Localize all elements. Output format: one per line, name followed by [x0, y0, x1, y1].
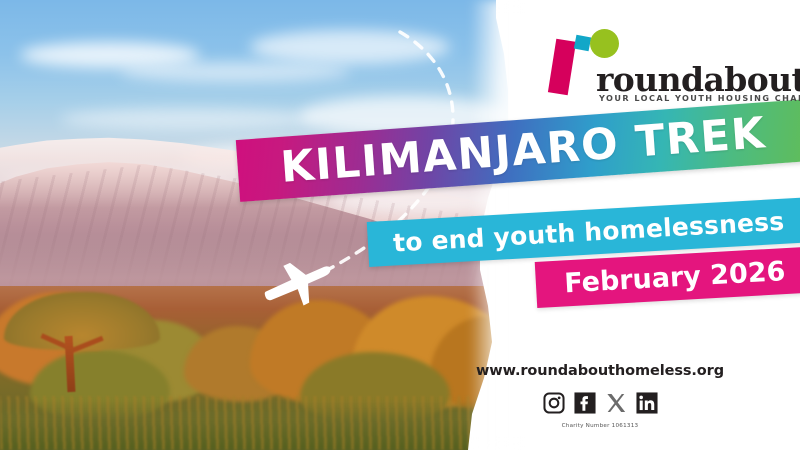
x-twitter-icon[interactable] — [605, 392, 627, 414]
linkedin-icon[interactable] — [636, 392, 658, 414]
instagram-icon[interactable] — [543, 392, 565, 414]
logo-tagline: YOUR LOCAL YOUTH HOUSING CHARITY — [599, 93, 800, 103]
cloud — [60, 108, 320, 130]
cloud — [250, 30, 450, 64]
logo-square-shape — [574, 35, 591, 52]
roundabout-logo: roundabout YOUR LOCAL YOUTH HOUSING CHAR… — [540, 22, 798, 112]
logo-circle-shape — [590, 29, 619, 58]
facebook-icon[interactable] — [574, 392, 596, 414]
social-links — [400, 392, 800, 414]
website-url[interactable]: www.roundabouthomeless.org — [400, 363, 800, 379]
poster: KILIMANJARO TREK to end youth homelessne… — [0, 0, 800, 450]
logo-bar-shape — [548, 39, 576, 95]
cloud — [120, 62, 350, 82]
charity-number: Charity Number 1061313 — [400, 423, 800, 429]
airplane-icon — [259, 253, 338, 315]
